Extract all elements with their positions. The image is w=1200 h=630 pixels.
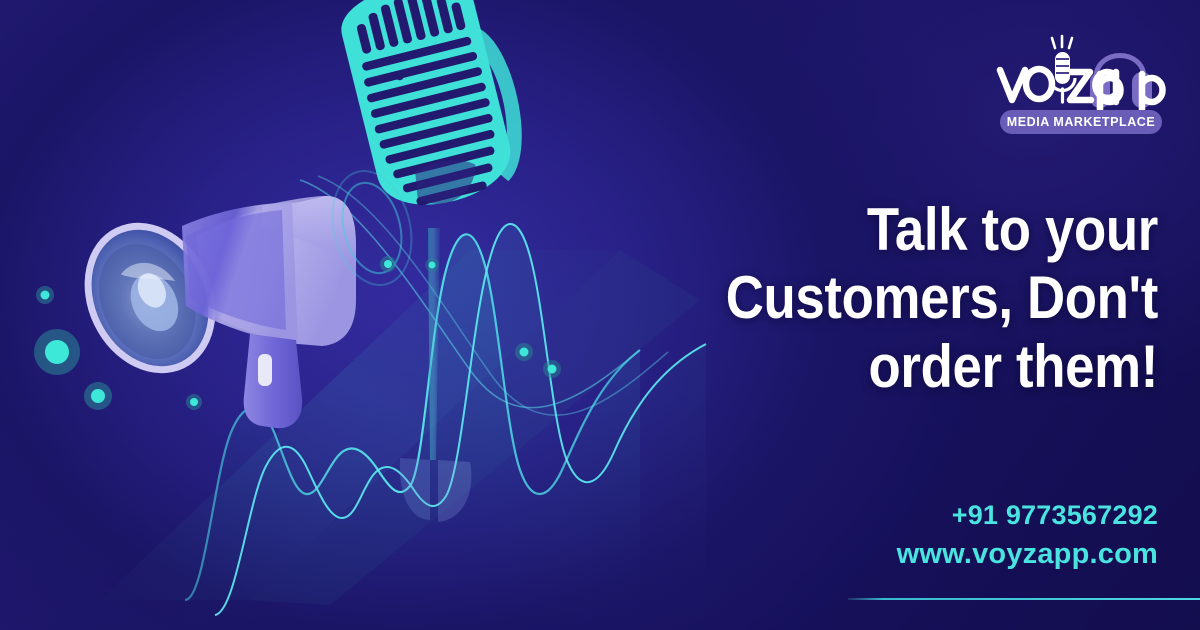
phone-number[interactable]: +91 9773567292	[638, 497, 1158, 534]
headline-line-2: Customers, Don't	[665, 264, 1158, 332]
brand-logo[interactable]: MEDIA MARKETPLACE	[992, 26, 1170, 138]
contact-block: +91 9773567292 www.voyzapp.com	[638, 497, 1158, 574]
headline-line-3: order them!	[665, 333, 1158, 401]
contact-underline	[848, 598, 1200, 600]
promo-banner: MEDIA MARKETPLACE Talk to your Customers…	[0, 0, 1200, 630]
logo-mark	[992, 26, 1170, 112]
website-url[interactable]: www.voyzapp.com	[638, 534, 1158, 574]
logo-tagline: MEDIA MARKETPLACE	[1000, 110, 1162, 134]
page-title: Talk to your Customers, Don't order them…	[665, 196, 1158, 401]
headline-line-1: Talk to your	[665, 196, 1158, 264]
